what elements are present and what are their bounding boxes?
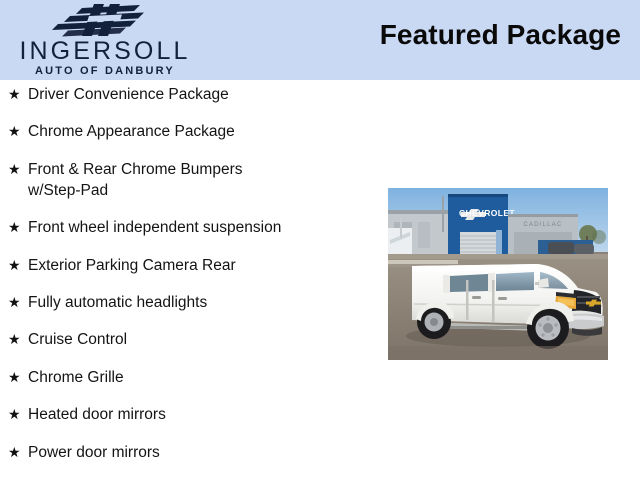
brand-wordmark: INGERSOLL [6, 38, 204, 64]
star-bullet-icon: ★ [8, 255, 21, 276]
list-item-label: Driver Convenience Package [28, 84, 380, 105]
star-bullet-icon: ★ [8, 292, 21, 313]
list-item-label: Fully automatic headlights [28, 292, 380, 313]
list-item: ★ Front wheel independent suspension [0, 217, 380, 238]
svg-text:CADILLAC: CADILLAC [524, 222, 563, 228]
star-bullet-icon: ★ [8, 442, 21, 463]
list-item-label: Chrome Appearance Package [28, 121, 380, 142]
list-item: ★ Cruise Control [0, 329, 380, 350]
vehicle-photo: CHEVROLET CADILLAC [388, 188, 608, 360]
list-item-label: Chrome Grille [28, 367, 380, 388]
list-item-label: Exterior Parking Camera Rear [28, 255, 380, 276]
list-item: ★ Heated door mirrors [0, 404, 380, 425]
star-bullet-icon: ★ [8, 121, 21, 142]
list-item: ★ Chrome Grille [0, 367, 380, 388]
star-bullet-icon: ★ [8, 329, 21, 350]
svg-text:CHEVROLET: CHEVROLET [459, 208, 515, 218]
list-item-label: Cruise Control [28, 329, 380, 350]
winged-emblem-icon [48, 3, 168, 37]
header-band: INGERSOLL AUTO OF DANBURY Featured Packa… [0, 0, 640, 80]
star-bullet-icon: ★ [8, 404, 21, 425]
list-item: ★ Chrome Appearance Package [0, 121, 380, 142]
list-item-label: Heated door mirrors [28, 404, 380, 425]
list-item: ★ Fully automatic headlights [0, 292, 380, 313]
star-bullet-icon: ★ [8, 367, 21, 388]
brand-tagline: AUTO OF DANBURY [6, 65, 204, 77]
list-item: ★ Exterior Parking Camera Rear [0, 255, 380, 276]
list-item-label: Front wheel independent suspension [28, 217, 380, 238]
list-item: ★ Driver Convenience Package [0, 84, 380, 105]
feature-list: ★ Driver Convenience Package ★ Chrome Ap… [0, 84, 380, 463]
page-title: Featured Package [380, 19, 621, 51]
list-item: ★ Power door mirrors [0, 442, 380, 463]
star-bullet-icon: ★ [8, 217, 21, 238]
list-item-label: Front & Rear Chrome Bumpers w/Step-Pad [28, 159, 380, 201]
brand-logo: INGERSOLL AUTO OF DANBURY [0, 0, 210, 80]
star-bullet-icon: ★ [8, 159, 21, 180]
star-bullet-icon: ★ [8, 84, 21, 105]
list-item: ★ Front & Rear Chrome Bumpers w/Step-Pad [0, 159, 380, 201]
list-item-label: Power door mirrors [28, 442, 380, 463]
